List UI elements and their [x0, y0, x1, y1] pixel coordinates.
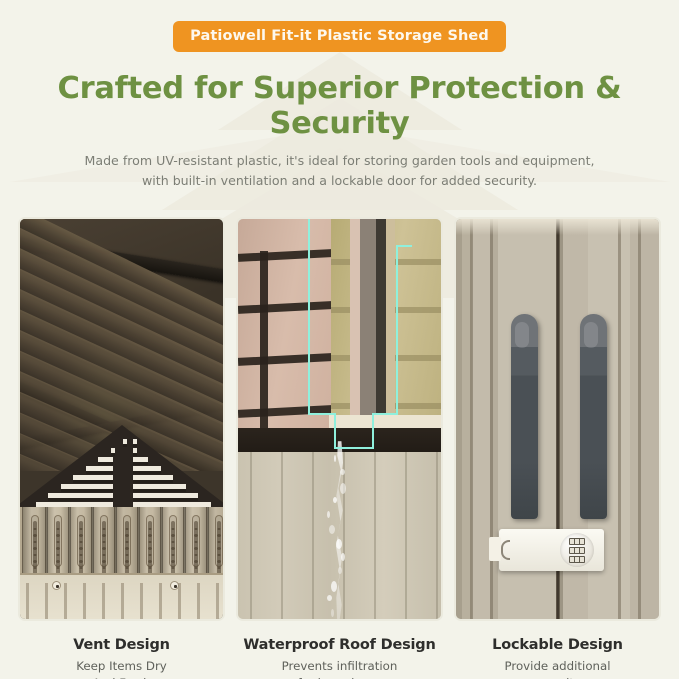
card-title: Lockable Design [454, 637, 661, 653]
water-droplet [334, 455, 336, 462]
lower-wall-rib [436, 452, 438, 619]
skirt-rib [83, 583, 86, 619]
card-subtitle-line-2: And Fresh [92, 676, 150, 679]
vent-louver [133, 475, 173, 480]
lower-wall-rib [405, 452, 407, 619]
water-droplet [329, 525, 335, 534]
vent-louver [133, 439, 137, 444]
page-title: Crafted for Superior Protection & Securi… [0, 71, 679, 141]
gable-vent-region [20, 425, 223, 517]
wall-slot-column [31, 515, 39, 567]
seam-highlight-right-foot [372, 413, 398, 415]
vent-louver [133, 484, 186, 489]
wall-slot-column [100, 515, 108, 567]
roof-seam-channel [350, 219, 395, 434]
water-droplet [331, 581, 337, 592]
feature-card-lockable-design: Lockable Design Provide additional secur… [454, 217, 661, 679]
screw-icon [52, 581, 61, 590]
lower-wall-rib [281, 452, 283, 619]
vent-louver [133, 493, 198, 498]
seam-highlight-right-drop [372, 413, 374, 449]
card-title: Vent Design [18, 637, 225, 653]
card-title: Waterproof Roof Design [236, 637, 443, 653]
water-droplet [340, 469, 345, 475]
lock-shackle-icon [501, 540, 510, 560]
ribbed-wall-panel [20, 507, 223, 575]
vent-louver [61, 484, 114, 489]
feature-card-vent-design: Vent Design Keep Items Dry And Fresh [18, 217, 225, 679]
louver-group [20, 425, 223, 517]
vent-louver [133, 448, 137, 453]
water-droplet [327, 595, 332, 601]
vent-louver [73, 475, 113, 480]
wall-slot-column [192, 515, 200, 567]
skirt-rib [178, 583, 181, 619]
wall-slot-column [215, 515, 223, 567]
waterproof-roof-photo [236, 217, 443, 621]
card-subtitle: Provide additional security [454, 658, 661, 679]
card-subtitle-line-2: security [534, 676, 581, 679]
lock-dial-housing [560, 533, 594, 567]
seam-highlight-left-foot [308, 413, 336, 415]
wall-slot-column [123, 515, 131, 567]
skirt-rib [45, 583, 48, 619]
seam-highlight-bottom [334, 447, 374, 449]
seam-highlight-right [396, 245, 398, 415]
skirt-rib [159, 583, 162, 619]
wall-base-skirt [20, 573, 223, 619]
page-subtitle-line-2: with built-in ventilation and a lockable… [142, 173, 537, 188]
lower-wall-rib [343, 452, 345, 619]
skirt-rib [121, 583, 124, 619]
wall-slot-column [54, 515, 62, 567]
card-subtitle-line-2: of rain and snow [290, 676, 388, 679]
lockable-design-photo [454, 217, 661, 621]
vent-louver [86, 466, 114, 471]
seam-highlight-top-right [396, 245, 412, 247]
seam-highlight-left [308, 219, 310, 413]
skirt-rib [26, 583, 29, 619]
lower-wall-rib [374, 452, 376, 619]
shingle-grout-vertical [260, 303, 268, 355]
door-top-highlight [456, 219, 659, 235]
skirt-rib [216, 583, 219, 619]
shingle-grout-vertical [260, 355, 268, 407]
vent-louver [48, 493, 113, 498]
right-door-handle-icon [580, 314, 607, 519]
skirt-rib [140, 583, 143, 619]
lower-wall-rib [250, 452, 252, 619]
feature-card-row: Vent Design Keep Items Dry And Fresh [0, 217, 679, 679]
water-droplet [327, 511, 330, 518]
wall-slot-column [169, 515, 177, 567]
card-subtitle-line-1: Keep Items Dry [76, 659, 167, 673]
screw-icon [170, 581, 179, 590]
skirt-rib [64, 583, 67, 619]
door-groove-4 [618, 219, 621, 619]
skirt-rib [197, 583, 200, 619]
badge-row: Patiowell Fit-it Plastic Storage Shed [0, 0, 679, 52]
skirt-rib [102, 583, 105, 619]
vent-louver [133, 457, 148, 462]
water-droplet [333, 497, 337, 503]
lock-latch-tab [489, 537, 501, 561]
lower-wall-rib [312, 452, 314, 619]
card-subtitle-line-1: Provide additional [504, 659, 610, 673]
water-droplet [331, 609, 334, 617]
water-droplet [338, 567, 342, 574]
vent-louver [133, 466, 161, 471]
wall-slot-column [77, 515, 85, 567]
water-droplet [341, 553, 345, 561]
product-badge: Patiowell Fit-it Plastic Storage Shed [173, 21, 506, 52]
vent-louver [98, 457, 113, 462]
vent-louver [111, 448, 115, 453]
combination-lock-icon [499, 529, 604, 571]
left-door-handle-icon [511, 314, 538, 519]
door-groove-1 [470, 219, 473, 619]
lock-dial-1 [569, 538, 585, 545]
roof-seam-region [238, 219, 441, 434]
lock-dial-2 [569, 547, 585, 554]
page-subtitle: Made from UV-resistant plastic, it's ide… [0, 151, 679, 190]
page-subtitle-line-1: Made from UV-resistant plastic, it's ide… [84, 153, 594, 168]
water-droplet [340, 483, 346, 494]
seam-highlight-left-drop [334, 413, 336, 449]
lock-dial-3 [569, 556, 585, 563]
door-groove-3 [638, 219, 641, 619]
shingle-grout-vertical [260, 251, 268, 303]
vent-design-photo [18, 217, 225, 621]
water-droplet [336, 539, 342, 549]
wall-slot-column [146, 515, 154, 567]
card-subtitle-line-1: Prevents infiltration [282, 659, 398, 673]
feature-card-waterproof-roof: Waterproof Roof Design Prevents infiltra… [236, 217, 443, 679]
vent-louver [123, 439, 127, 444]
card-subtitle: Keep Items Dry And Fresh [18, 658, 225, 679]
card-subtitle: Prevents infiltration of rain and snow [236, 658, 443, 679]
